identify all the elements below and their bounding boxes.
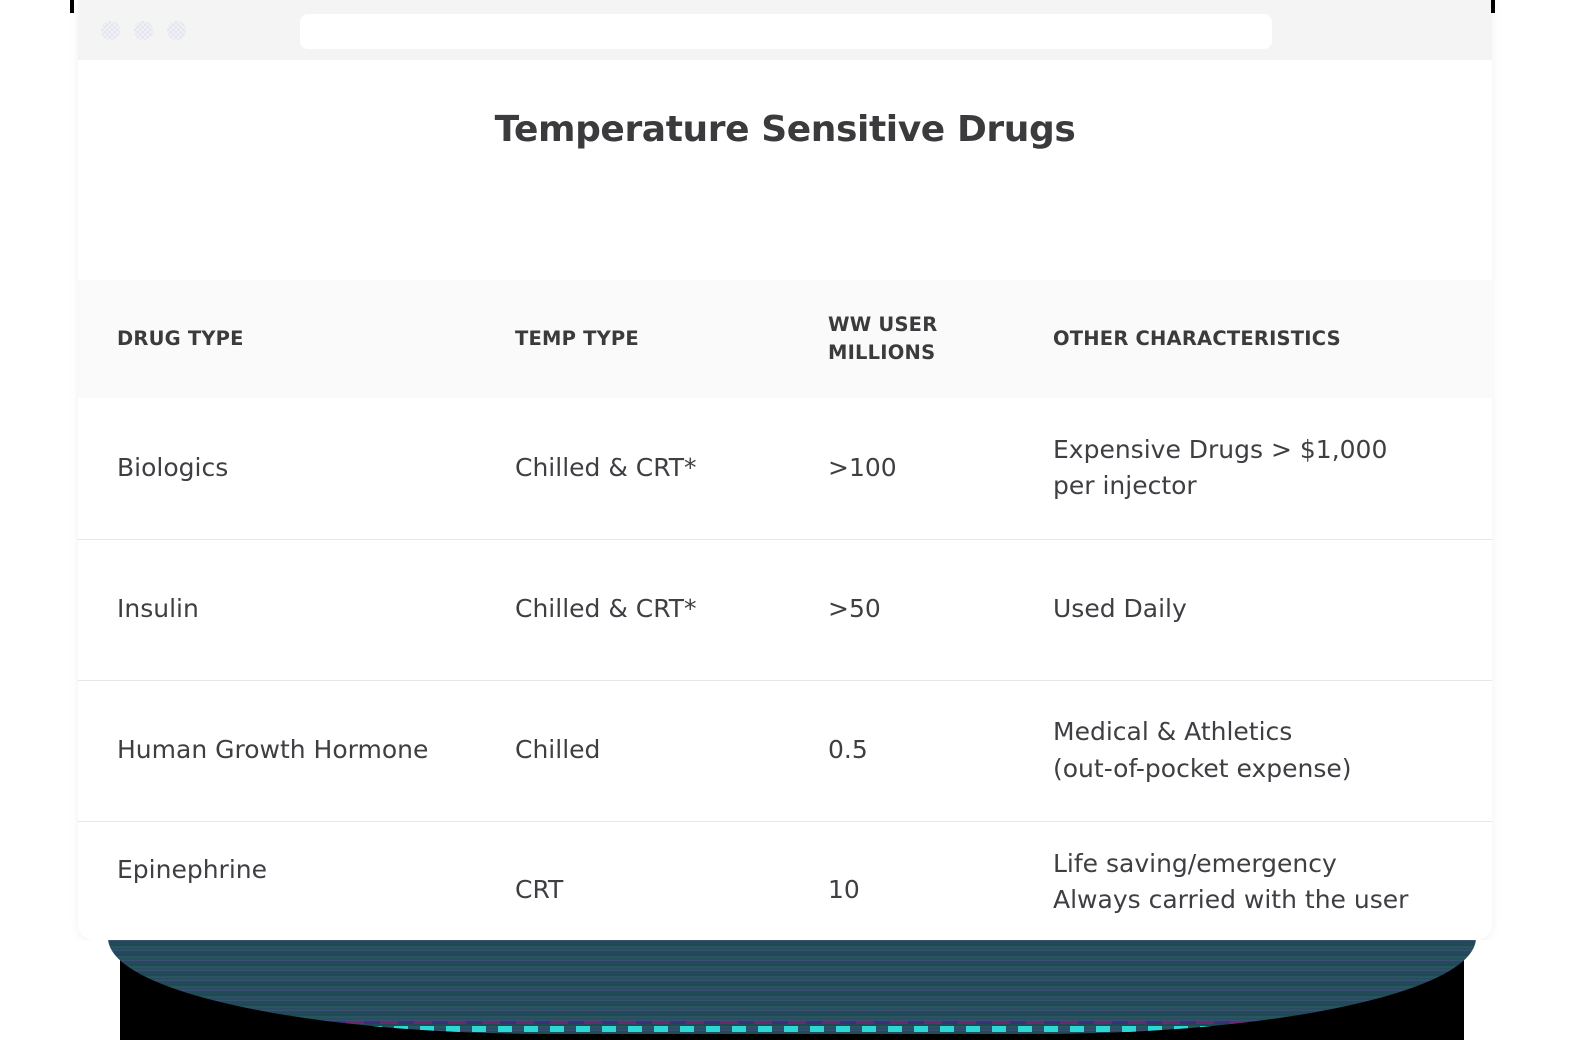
cell-other-characteristics: Expensive Drugs > $1,000 per injector <box>1053 398 1492 539</box>
cell-other-line1: Medical & Athletics <box>1053 714 1492 750</box>
close-dot-icon[interactable] <box>101 21 120 40</box>
edge-artifact-left <box>70 0 74 13</box>
table-row[interactable]: Human Growth Hormone Chilled 0.5 Medical… <box>78 680 1492 821</box>
column-header-ww-user-millions[interactable]: WW USER MILLIONS <box>828 280 1053 398</box>
edge-artifact-right <box>1491 0 1495 13</box>
artifact-striped-shape <box>108 940 1476 1034</box>
cell-other-line2: (out-of-pocket expense) <box>1053 751 1492 787</box>
table-row[interactable]: Biologics Chilled & CRT* >100 Expensive … <box>78 398 1492 539</box>
cell-temp-type: Chilled <box>515 680 828 821</box>
cell-ww-users: >50 <box>828 539 1053 680</box>
cell-drug-type: Epinephrine <box>78 821 515 940</box>
cell-drug-type: Biologics <box>78 398 515 539</box>
table-header-row: DRUG TYPE TEMP TYPE WW USER MILLIONS OTH… <box>78 280 1492 398</box>
cell-ww-users: >100 <box>828 398 1053 539</box>
cell-other-line1: Expensive Drugs > $1,000 <box>1053 432 1492 468</box>
browser-window: Temperature Sensitive Drugs DRUG TYPE TE… <box>78 0 1492 940</box>
page-title: Temperature Sensitive Drugs <box>78 60 1492 151</box>
column-header-ww-user-line1: WW USER <box>828 311 1053 339</box>
cell-temp-type: Chilled & CRT* <box>515 539 828 680</box>
temperature-sensitive-drugs-table: DRUG TYPE TEMP TYPE WW USER MILLIONS OTH… <box>78 280 1492 940</box>
cell-other-line2: per injector <box>1053 468 1492 504</box>
table-header: DRUG TYPE TEMP TYPE WW USER MILLIONS OTH… <box>78 280 1492 398</box>
column-header-ww-user-line2: MILLIONS <box>828 339 1053 367</box>
table-body: Biologics Chilled & CRT* >100 Expensive … <box>78 398 1492 940</box>
cell-drug-type: Human Growth Hormone <box>78 680 515 821</box>
column-header-temp-type[interactable]: TEMP TYPE <box>515 280 828 398</box>
table-row[interactable]: Epinephrine CRT 10 Life saving/emergency… <box>78 821 1492 940</box>
column-header-drug-type[interactable]: DRUG TYPE <box>78 280 515 398</box>
cell-other-line1: Used Daily <box>1053 591 1492 627</box>
page-gutter-left <box>0 0 78 940</box>
artifact-mask-right <box>1464 940 1584 1040</box>
table-row[interactable]: Insulin Chilled & CRT* >50 Used Daily <box>78 539 1492 680</box>
cell-other-characteristics: Used Daily <box>1053 539 1492 680</box>
cell-other-characteristics: Life saving/emergency Always carried wit… <box>1053 821 1492 940</box>
column-header-other-characteristics[interactable]: OTHER CHARACTERISTICS <box>1053 280 1492 398</box>
bottom-render-artifact <box>0 940 1584 1040</box>
cell-other-line2: Always carried with the user <box>1053 882 1492 918</box>
maximize-dot-icon[interactable] <box>167 21 186 40</box>
cell-other-characteristics: Medical & Athletics (out-of-pocket expen… <box>1053 680 1492 821</box>
cell-other-line1: Life saving/emergency <box>1053 846 1492 882</box>
cell-ww-users: 10 <box>828 821 1053 940</box>
url-input[interactable] <box>300 14 1272 49</box>
page-gutter-right <box>1492 0 1584 940</box>
cell-temp-type: Chilled & CRT* <box>515 398 828 539</box>
page-content: Temperature Sensitive Drugs DRUG TYPE TE… <box>78 60 1492 940</box>
screenshot-stage: Temperature Sensitive Drugs DRUG TYPE TE… <box>0 0 1584 1040</box>
cell-ww-users: 0.5 <box>828 680 1053 821</box>
cell-temp-type: CRT <box>515 821 828 940</box>
browser-chrome-bar <box>78 0 1492 60</box>
cell-drug-type: Insulin <box>78 539 515 680</box>
minimize-dot-icon[interactable] <box>134 21 153 40</box>
artifact-mask-left <box>0 940 120 1040</box>
window-traffic-lights <box>101 21 186 40</box>
